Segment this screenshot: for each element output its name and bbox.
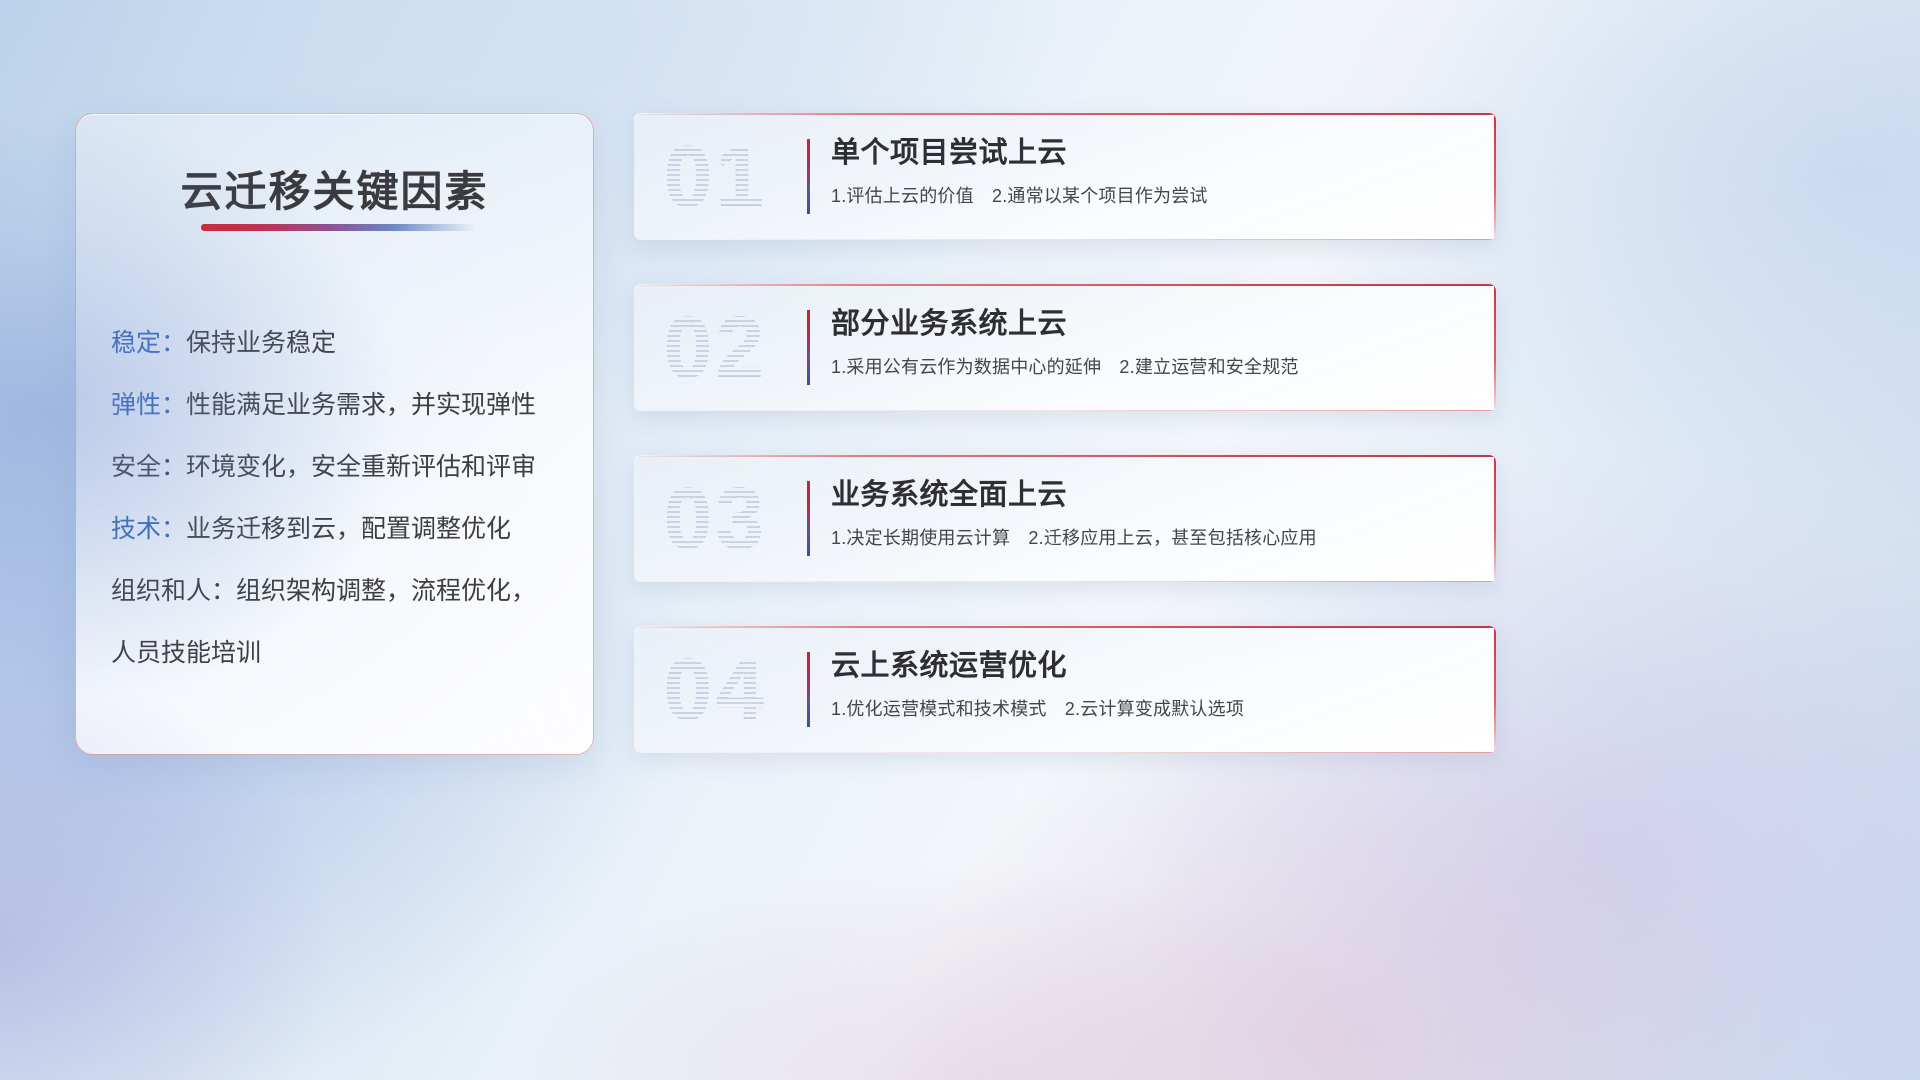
factor-list: 稳定：保持业务稳定 弹性：性能满足业务需求，并实现弹性 安全：环境变化，安全重新… <box>111 312 573 684</box>
card-bottom-accent-line <box>634 410 1496 411</box>
card-top-accent-line <box>634 284 1496 286</box>
key-factors-panel: 云迁移关键因素 稳定：保持业务稳定 弹性：性能满足业务需求，并实现弹性 安全：环… <box>75 113 594 755</box>
card-top-accent-line <box>634 113 1496 115</box>
migration-steps-list: 01 单个项目尝试上云 1.评估上云的价值 2.通常以某个项目作为尝试 02 部… <box>634 113 1496 753</box>
factor-label: 技术： <box>111 515 186 543</box>
step-number-text: 02 <box>664 300 768 396</box>
factor-label: 弹性： <box>111 391 186 419</box>
factor-text: 环境变化，安全重新评估和评审 <box>186 453 536 481</box>
step-card-04[interactable]: 04 云上系统运营优化 1.优化运营模式和技术模式 2.云计算变成默认选项 <box>634 626 1496 753</box>
slide-canvas: 云迁移关键因素 稳定：保持业务稳定 弹性：性能满足业务需求，并实现弹性 安全：环… <box>0 0 1920 1080</box>
step-accent-bar <box>807 652 810 727</box>
page-title: 云迁移关键因素 <box>76 158 593 219</box>
step-accent-bar <box>807 481 810 556</box>
factor-text: 业务迁移到云，配置调整优化 <box>186 515 511 543</box>
step-subtitle: 1.决定长期使用云计算 2.迁移应用上云，甚至包括核心应用 <box>831 524 1472 550</box>
card-right-accent-line <box>1494 113 1496 240</box>
step-number-watermark: 02 <box>664 305 768 391</box>
card-top-accent-line <box>634 455 1496 457</box>
factor-label: 稳定： <box>111 329 186 357</box>
step-title: 云上系统运营优化 <box>831 648 1472 686</box>
factor-item-technology: 技术：业务迁移到云，配置调整优化 <box>111 498 573 560</box>
step-card-01[interactable]: 01 单个项目尝试上云 1.评估上云的价值 2.通常以某个项目作为尝试 <box>634 113 1496 240</box>
step-subtitle: 1.优化运营模式和技术模式 2.云计算变成默认选项 <box>831 695 1472 721</box>
step-subtitle: 1.采用公有云作为数据中心的延伸 2.建立运营和安全规范 <box>831 353 1472 379</box>
card-right-accent-line <box>1494 284 1496 411</box>
step-content: 业务系统全面上云 1.决定长期使用云计算 2.迁移应用上云，甚至包括核心应用 <box>831 477 1472 550</box>
step-number-text: 01 <box>664 129 768 225</box>
factor-item-security: 安全：环境变化，安全重新评估和评审 <box>111 436 573 498</box>
factor-item-organization: 组织和人：组织架构调整，流程优化， <box>111 560 573 622</box>
step-accent-bar <box>807 139 810 214</box>
step-title: 部分业务系统上云 <box>831 306 1472 344</box>
step-number-text: 04 <box>664 642 768 738</box>
step-number-watermark: 04 <box>664 647 768 733</box>
step-subtitle: 1.评估上云的价值 2.通常以某个项目作为尝试 <box>831 182 1472 208</box>
factor-text: 保持业务稳定 <box>186 329 336 357</box>
step-title: 业务系统全面上云 <box>831 477 1472 515</box>
card-right-accent-line <box>1494 455 1496 582</box>
step-number-watermark: 01 <box>664 134 768 220</box>
step-content: 云上系统运营优化 1.优化运营模式和技术模式 2.云计算变成默认选项 <box>831 648 1472 721</box>
factor-item-elasticity: 弹性：性能满足业务需求，并实现弹性 <box>111 374 573 436</box>
card-top-accent-line <box>634 626 1496 628</box>
factor-label: 安全： <box>111 453 186 481</box>
step-title: 单个项目尝试上云 <box>831 135 1472 173</box>
factor-item-stability: 稳定：保持业务稳定 <box>111 312 573 374</box>
step-accent-bar <box>807 310 810 385</box>
card-bottom-accent-line <box>634 239 1496 240</box>
factor-label: 组织和人： <box>111 577 236 605</box>
card-right-accent-line <box>1494 626 1496 753</box>
step-number-watermark: 03 <box>664 476 768 562</box>
card-bottom-accent-line <box>634 581 1496 582</box>
title-underline-accent <box>201 224 476 231</box>
step-card-03[interactable]: 03 业务系统全面上云 1.决定长期使用云计算 2.迁移应用上云，甚至包括核心应… <box>634 455 1496 582</box>
step-content: 单个项目尝试上云 1.评估上云的价值 2.通常以某个项目作为尝试 <box>831 135 1472 208</box>
factor-item-organization-continued: 人员技能培训 <box>111 622 573 684</box>
step-card-02[interactable]: 02 部分业务系统上云 1.采用公有云作为数据中心的延伸 2.建立运营和安全规范 <box>634 284 1496 411</box>
step-number-text: 03 <box>664 471 768 567</box>
factor-text: 性能满足业务需求，并实现弹性 <box>186 391 536 419</box>
card-bottom-accent-line <box>634 752 1496 753</box>
step-content: 部分业务系统上云 1.采用公有云作为数据中心的延伸 2.建立运营和安全规范 <box>831 306 1472 379</box>
factor-text: 组织架构调整，流程优化， <box>236 577 536 605</box>
